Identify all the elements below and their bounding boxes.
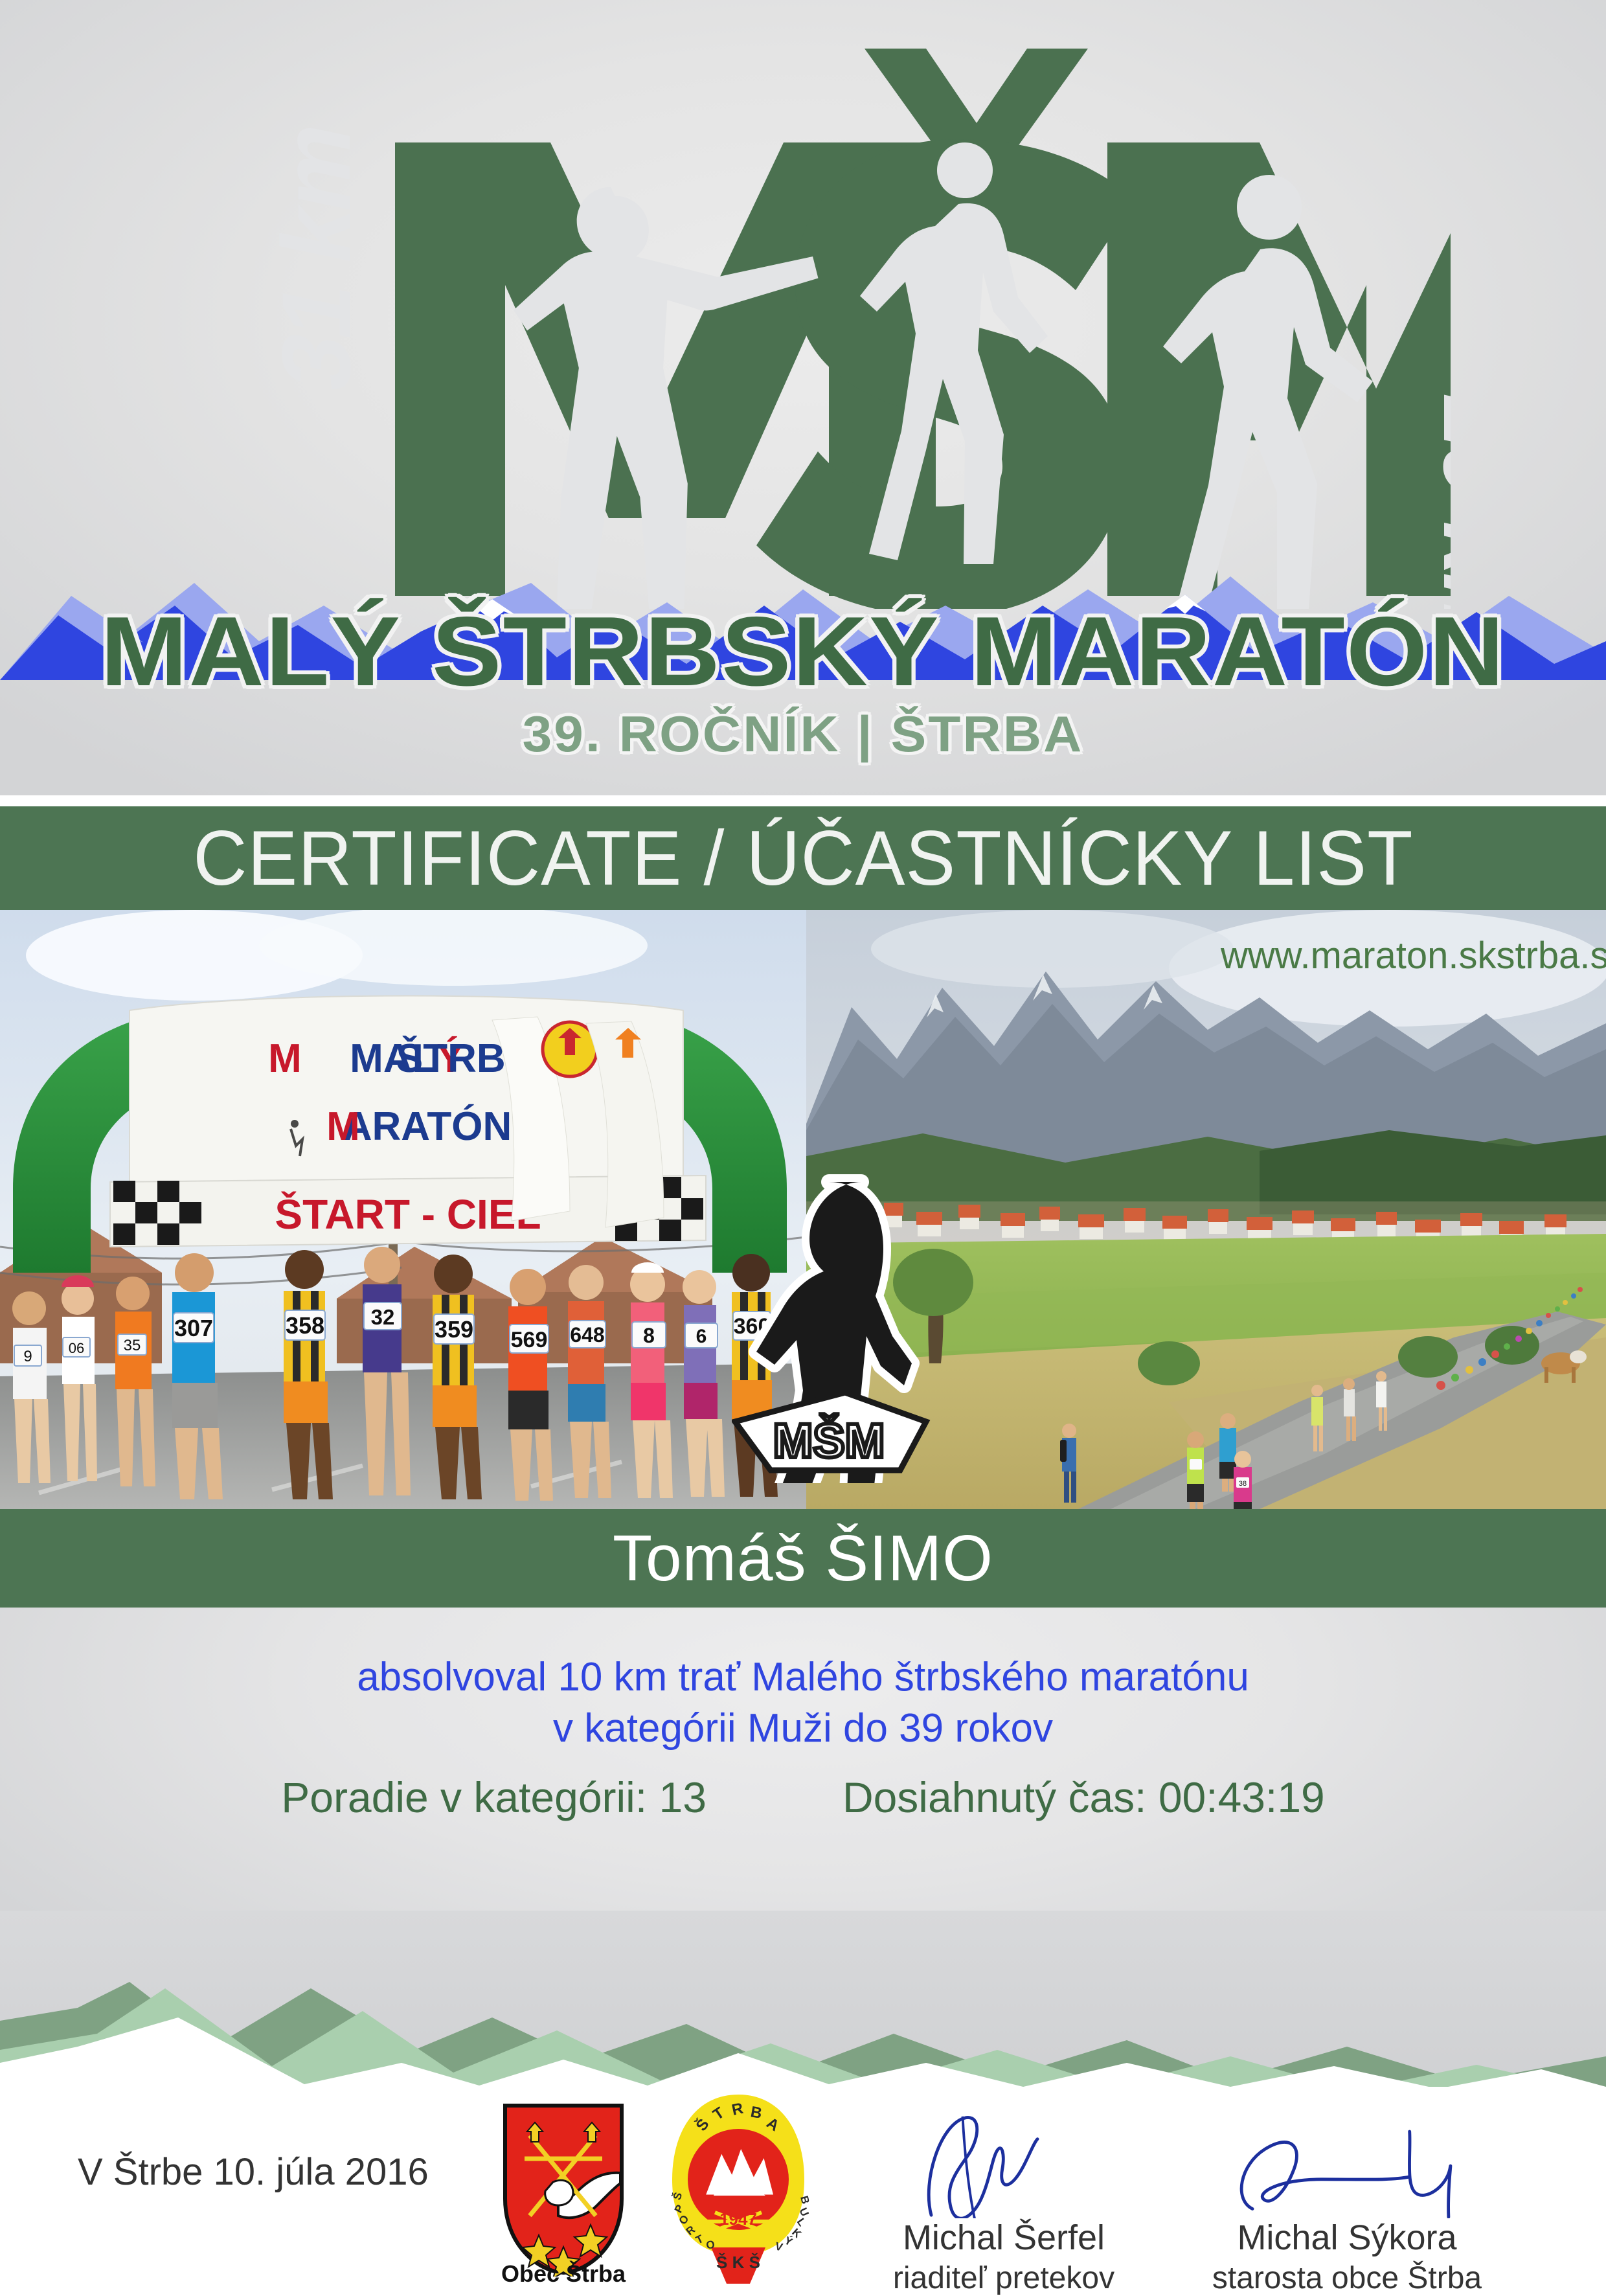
obec-strba-coat-of-arms bbox=[499, 2102, 628, 2277]
signature-block-mayor: Michal Sýkora starosta obce Štrba bbox=[1185, 2111, 1509, 2296]
msm-logo-svg: 31 km 10 km bbox=[155, 26, 1451, 609]
logo-title-block: MALÝ ŠTRBSKÝ MARATÓN 39. ROČNÍK | ŠTRBA bbox=[0, 602, 1606, 764]
description-block: absolvoval 10 km trať Malého štrbského m… bbox=[0, 1652, 1606, 1755]
certificate-page: 31 km 10 km MALÝ ŠTRBSKÝ MARATÓN 39. ROČ… bbox=[0, 0, 1606, 2272]
rank-label: Poradie v kategórii: 13 bbox=[281, 1773, 707, 1822]
event-main-title: MALÝ ŠTRBSKÝ MARATÓN bbox=[0, 602, 1606, 701]
bib-32: 32 bbox=[371, 1305, 395, 1329]
bib-359: 359 bbox=[435, 1316, 473, 1343]
photo-race-start: MALÝ M ŠTRBSKÝ ARATÓN M bbox=[0, 910, 806, 1509]
photo-race-start-svg: MALÝ M ŠTRBSKÝ ARATÓN M bbox=[0, 910, 806, 1509]
issue-date: V Štrbe 10. júla 2016 bbox=[78, 2150, 429, 2194]
bib-307: 307 bbox=[174, 1315, 213, 1341]
certificate-title: CERTIFICATE / ÚČASTNÍCKY LIST bbox=[193, 813, 1413, 903]
time-label: Dosiahnutý čas: 00:43:19 bbox=[843, 1773, 1325, 1822]
bib-6: 6 bbox=[696, 1326, 707, 1347]
svg-text:38: 38 bbox=[1239, 1480, 1247, 1488]
distance-left-label: 31 km bbox=[263, 114, 371, 400]
bib-8: 8 bbox=[643, 1324, 655, 1347]
svg-text:31 km: 31 km bbox=[263, 114, 371, 400]
svg-text:9: 9 bbox=[23, 1348, 32, 1365]
svg-text:ŠTART - CIEĽ: ŠTART - CIEĽ bbox=[275, 1190, 541, 1238]
runner-name-banner: Tomáš ŠIMO bbox=[0, 1509, 1606, 1608]
logo-panel: 31 km 10 km MALÝ ŠTRBSKÝ MARATÓN 39. ROČ… bbox=[0, 0, 1606, 795]
svg-text:ARATÓN: ARATÓN bbox=[343, 1104, 512, 1149]
sks-bottom-text: Š K Š bbox=[716, 2253, 760, 2272]
signature-block-director: Michal Šerfel riaditeľ pretekov bbox=[842, 2111, 1166, 2296]
msm-emblem-text: MŠM bbox=[773, 1414, 885, 1468]
svg-text:35: 35 bbox=[124, 1337, 141, 1354]
bib-358: 358 bbox=[286, 1312, 324, 1339]
photo-strip: MALÝ M ŠTRBSKÝ ARATÓN M bbox=[0, 910, 1606, 1509]
msm-runner-emblem: MŠM bbox=[732, 1166, 945, 1483]
signature-name-director: Michal Šerfel bbox=[842, 2218, 1166, 2258]
signature-role-director: riaditeľ pretekov bbox=[842, 2260, 1166, 2296]
bib-648: 648 bbox=[570, 1323, 604, 1347]
sks-strba-logo: 1947 Š T R B A Š P O R T O V Ý K L U bbox=[667, 2092, 809, 2286]
svg-text:M: M bbox=[268, 1036, 302, 1081]
bib-569: 569 bbox=[511, 1328, 548, 1352]
runner-name: Tomáš ŠIMO bbox=[613, 1521, 993, 1596]
description-line-1: absolvoval 10 km trať Malého štrbského m… bbox=[0, 1652, 1606, 1703]
description-line-2: v kategórii Muži do 39 rokov bbox=[0, 1703, 1606, 1754]
svg-text:06: 06 bbox=[69, 1340, 84, 1356]
signature-name-mayor: Michal Sýkora bbox=[1185, 2218, 1509, 2258]
sks-year: 1947 bbox=[719, 2209, 757, 2229]
certificate-banner: CERTIFICATE / ÚČASTNÍCKY LIST bbox=[0, 806, 1606, 910]
signature-role-mayor: starosta obce Štrba bbox=[1185, 2260, 1509, 2296]
obec-strba-label: Obec Štrba bbox=[479, 2260, 648, 2288]
website-url-text: www.maraton.skstrba.sk bbox=[1220, 935, 1606, 977]
signature-scribble-director bbox=[846, 2111, 1160, 2218]
footer: V Štrbe 10. júla 2016 Obec Štrba bbox=[0, 2040, 1606, 2272]
signature-scribble-mayor bbox=[1190, 2111, 1504, 2218]
event-sub-title: 39. ROČNÍK | ŠTRBA bbox=[0, 705, 1606, 764]
svg-text:M: M bbox=[326, 1104, 360, 1149]
result-row: Poradie v kategórii: 13 Dosiahnutý čas: … bbox=[0, 1773, 1606, 1822]
